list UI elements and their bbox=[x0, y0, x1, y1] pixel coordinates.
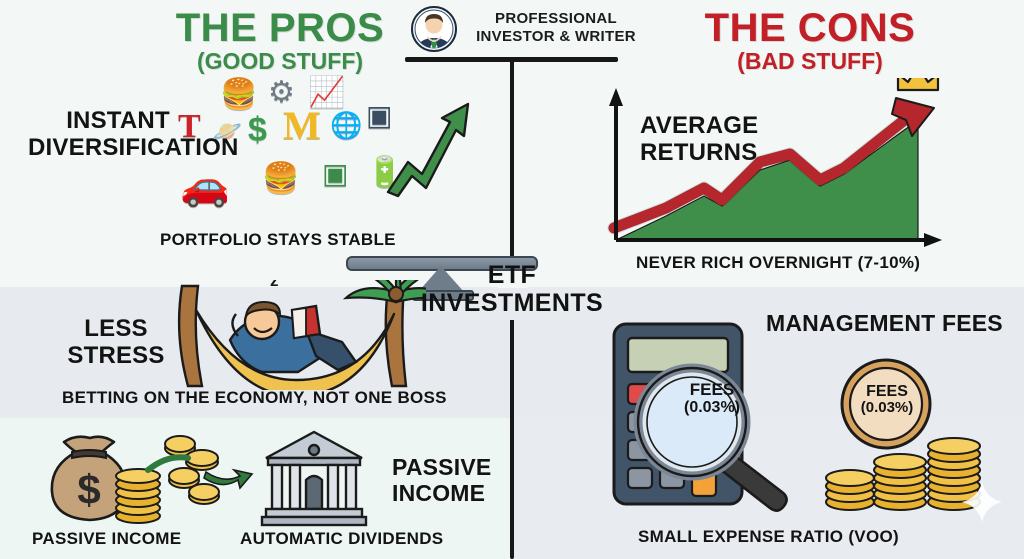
header-horizontal-divider bbox=[405, 57, 618, 62]
chart-y-axis-arrowhead bbox=[609, 88, 623, 106]
hammock-relaxing-man-icon: z z bbox=[166, 280, 426, 390]
tesla-logo-icon: T bbox=[178, 110, 201, 144]
fees-badge-magnifier: FEES (0.03%) bbox=[664, 381, 760, 417]
money-bag-icon: $ bbox=[52, 437, 126, 520]
caption-never-rich-overnight: NEVER RICH OVERNIGHT (7-10%) bbox=[636, 253, 920, 273]
caption-betting-on-the-economy: BETTING ON THE ECONOMY, NOT ONE BOSS bbox=[62, 388, 447, 408]
center-etf-label: ETF INVESTMENTS bbox=[412, 262, 612, 317]
calculator-with-magnifier-group bbox=[604, 318, 824, 518]
average-returns-chart bbox=[600, 78, 950, 258]
pros-title: THE PROS bbox=[130, 8, 430, 48]
bank-building-icon bbox=[262, 432, 366, 525]
crown-icon bbox=[894, 78, 942, 90]
chart-x-axis-arrowhead bbox=[924, 233, 942, 247]
flying-coins-icon bbox=[165, 436, 219, 504]
red-car-icon: 🚗 bbox=[180, 166, 230, 206]
label-less-stress: LESS STRESS bbox=[56, 316, 176, 370]
burger-icon: 🍔 bbox=[220, 80, 257, 110]
burger-icon-2: 🍔 bbox=[262, 164, 299, 194]
svg-text:$: $ bbox=[77, 466, 100, 513]
cons-title: THE CONS bbox=[660, 8, 960, 48]
planet-icon: 🪐 bbox=[212, 120, 242, 144]
pros-subtitle: (GOOD STUFF) bbox=[130, 48, 430, 75]
caption-small-expense-ratio: SMALL EXPENSE RATIO (VOO) bbox=[638, 527, 899, 547]
svg-text:z: z bbox=[270, 280, 279, 290]
dollar-sign-icon: $ bbox=[248, 113, 267, 147]
businessman-avatar-icon bbox=[410, 5, 458, 53]
caption-portfolio-stays-stable: PORTFOLIO STAYS STABLE bbox=[160, 230, 396, 250]
label-average-returns: AVERAGE RETURNS bbox=[640, 113, 820, 167]
globe-icon: 🌐 bbox=[330, 112, 362, 138]
label-passive-income: PASSIVE INCOME bbox=[392, 455, 502, 507]
sparkle-icon bbox=[960, 480, 1004, 524]
mcdonalds-arches-icon: M bbox=[283, 106, 321, 146]
infographic-canvas: THE PROS (GOOD STUFF) THE CONS (BAD STUF… bbox=[0, 0, 1024, 559]
green-growth-arrow-icon bbox=[384, 88, 476, 198]
coin-stack-icon bbox=[116, 469, 160, 523]
diversification-icon-cluster: T 🍔 ⚙ 📈 🪐 $ M 🌐 ▣ 🚗 🍔 ▣ 🔋 bbox=[170, 80, 470, 225]
passive-income-illustration: $ bbox=[28, 428, 398, 528]
microchip-icon-2: ▣ bbox=[322, 160, 348, 188]
fees-badge-coin: FEES (0.03%) bbox=[842, 383, 932, 416]
caption-passive-income: PASSIVE INCOME bbox=[32, 529, 181, 549]
svg-text:z: z bbox=[282, 280, 289, 281]
byline-text: PROFESSIONAL INVESTOR & WRITER bbox=[466, 10, 646, 47]
caption-automatic-dividends: AUTOMATIC DIVIDENDS bbox=[240, 529, 443, 549]
coin-stacks-icon bbox=[826, 438, 980, 510]
cons-subtitle: (BAD STUFF) bbox=[660, 48, 960, 75]
